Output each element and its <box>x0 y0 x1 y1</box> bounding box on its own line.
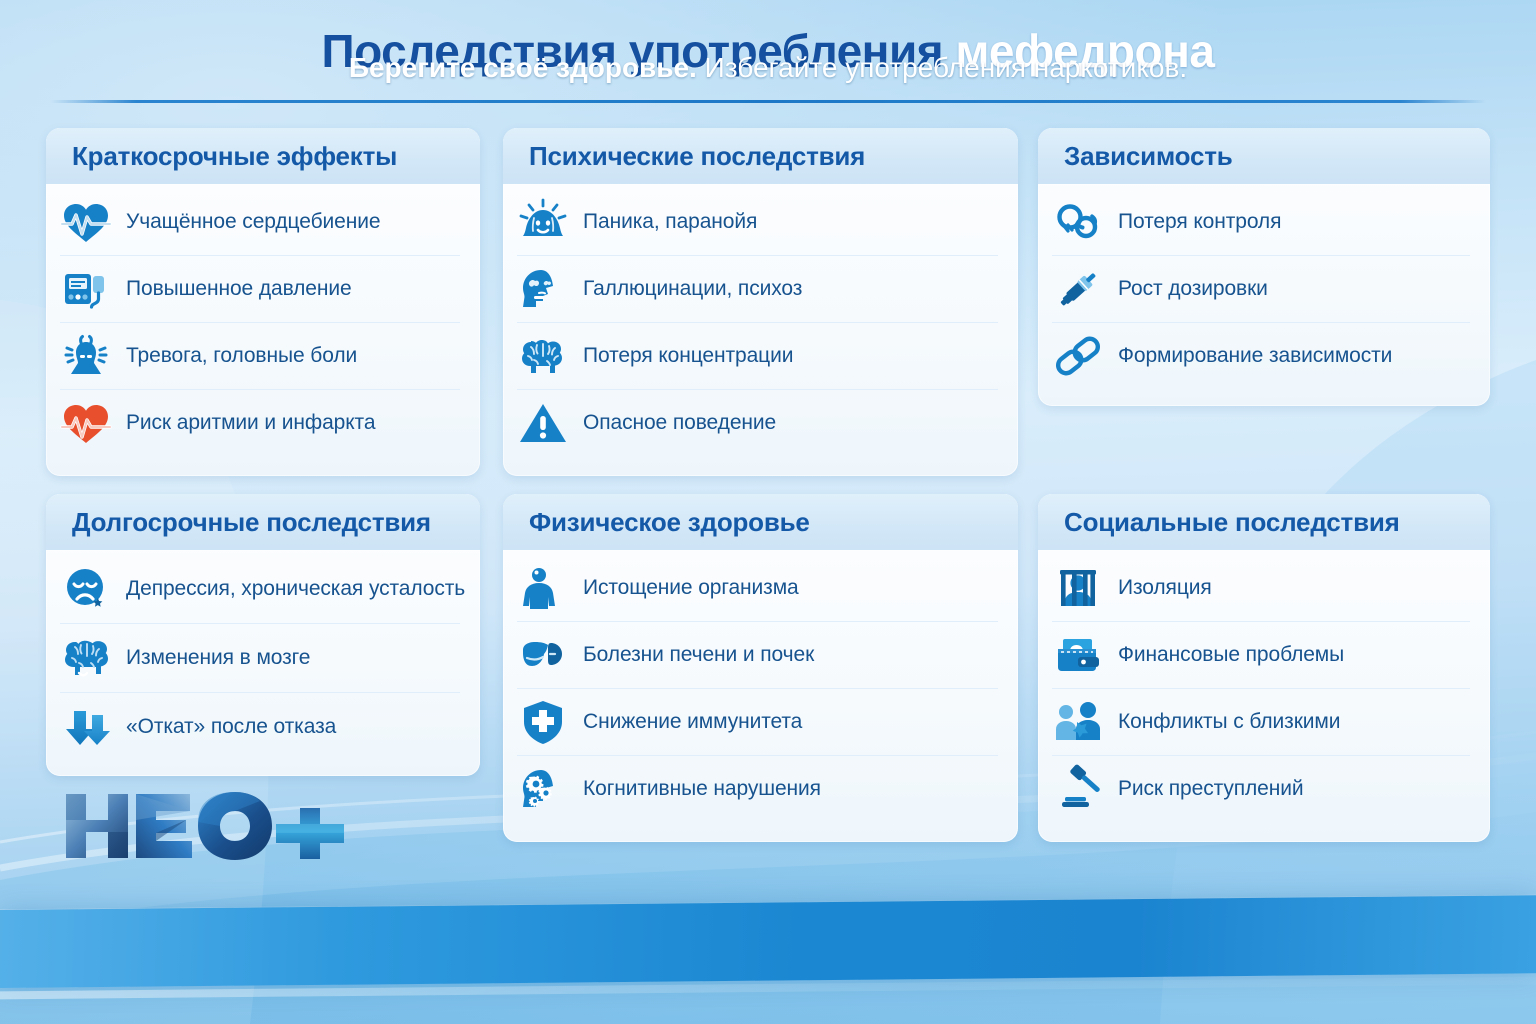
list-item-label: Галлюцинации, психоз <box>583 277 802 301</box>
blood-pressure-monitor-icon <box>60 263 112 315</box>
brand-logo-neo-plus: НЕО+ <box>62 788 352 864</box>
list-item-label: Болезни печени и почек <box>583 643 814 667</box>
prison-isolation-icon <box>1052 562 1104 614</box>
hallucination-head-icon <box>517 263 569 315</box>
list-item-label: Изоляция <box>1118 576 1212 600</box>
card-header: Долгосрочные последствия <box>46 494 480 551</box>
list-item-label: Риск аритмии и инфаркта <box>126 411 375 435</box>
card-title: Психические последствия <box>529 141 865 172</box>
card-header: Психические последствия <box>503 128 1018 185</box>
card-title: Долгосрочные последствия <box>72 507 431 538</box>
list-item[interactable]: Риск преступлений <box>1052 756 1470 822</box>
list-item-label: Финансовые проблемы <box>1118 643 1344 667</box>
list-item[interactable]: Рост дозировки <box>1052 256 1470 323</box>
head-gears-icon <box>517 763 569 815</box>
footer-strip <box>0 895 1536 988</box>
list-item[interactable]: Риск аритмии и инфаркта <box>60 390 460 456</box>
list-item[interactable]: Повышенное давление <box>60 256 460 323</box>
list-item-label: Формирование зависимости <box>1118 344 1392 368</box>
sad-face-icon <box>60 563 112 615</box>
brain-icon <box>517 330 569 382</box>
conflict-people-icon <box>1052 696 1104 748</box>
card-body: Депрессия, хроническая усталость Изменен… <box>46 551 480 771</box>
list-item[interactable]: Учащённое сердцебиение <box>60 189 460 256</box>
brain-change-icon <box>60 632 112 684</box>
list-item[interactable]: Истощение организма <box>517 555 998 622</box>
list-item[interactable]: Снижение иммунитета <box>517 689 998 756</box>
list-item[interactable]: Изменения в мозге <box>60 624 460 693</box>
card-title: Зависимость <box>1064 141 1233 172</box>
gavel-icon <box>1052 763 1104 815</box>
list-item-label: Тревога, головные боли <box>126 344 357 368</box>
list-item[interactable]: Потеря концентрации <box>517 323 998 390</box>
footer-message-rest: Избегайте употребления наркотиков. <box>705 52 1188 83</box>
card-header: Социальные последствия <box>1038 494 1490 551</box>
card-header: Краткосрочные эффекты <box>46 128 480 185</box>
card-social-consequences: Социальные последствия Изоляция <box>1038 494 1490 842</box>
card-body: Изоляция Финансовые проблемы К <box>1038 551 1490 832</box>
handcuffs-icon <box>1052 196 1104 248</box>
card-short-term-effects: Краткосрочные эффекты Учащённое сердцеби… <box>46 128 480 476</box>
list-item[interactable]: Паника, паранойя <box>517 189 998 256</box>
list-item[interactable]: Опасное поведение <box>517 390 998 456</box>
card-body: Паника, паранойя Галлюцинации, психоз По… <box>503 185 1018 466</box>
card-header: Зависимость <box>1038 128 1490 185</box>
list-item-label: Риск преступлений <box>1118 777 1304 801</box>
card-long-term-consequences: Долгосрочные последствия Депрессия, хрон… <box>46 494 480 776</box>
list-item-label: Изменения в мозге <box>126 646 310 670</box>
liver-kidney-icon <box>517 629 569 681</box>
list-item-label: Депрессия, хроническая усталость <box>126 577 465 601</box>
list-item[interactable]: Изоляция <box>1052 555 1470 622</box>
list-item[interactable]: «Откат» после отказа <box>60 693 460 761</box>
shield-cross-icon <box>517 696 569 748</box>
exhausted-body-icon <box>517 562 569 614</box>
list-item[interactable]: Финансовые проблемы <box>1052 622 1470 689</box>
card-title: Краткосрочные эффекты <box>72 141 397 172</box>
list-item[interactable]: Депрессия, хроническая усталость <box>60 555 460 624</box>
list-item[interactable]: Галлюцинации, психоз <box>517 256 998 323</box>
list-item-label: Истощение организма <box>583 576 799 600</box>
list-item-label: Потеря контроля <box>1118 210 1281 234</box>
list-item-label: Когнитивные нарушения <box>583 777 821 801</box>
card-title: Физическое здоровье <box>529 507 810 538</box>
list-item-label: Снижение иммунитета <box>583 710 802 734</box>
card-body: Потеря контроля Рост дозировки <box>1038 185 1490 399</box>
list-item[interactable]: Потеря контроля <box>1052 189 1470 256</box>
list-item-label: Повышенное давление <box>126 277 352 301</box>
card-title: Социальные последствия <box>1064 507 1400 538</box>
heart-arrhythmia-risk-icon <box>60 397 112 449</box>
headache-person-icon <box>60 330 112 382</box>
panic-ghost-icon <box>517 196 569 248</box>
list-item[interactable]: Конфликты с близкими <box>1052 689 1470 756</box>
list-item-label: Конфликты с близкими <box>1118 710 1340 734</box>
footer-message-bold: Берегите своё здоровье. <box>349 52 697 83</box>
list-item[interactable]: Болезни печени и почек <box>517 622 998 689</box>
card-body: Учащённое сердцебиение Повышенное давлен… <box>46 185 480 466</box>
list-item[interactable]: Тревога, головные боли <box>60 323 460 390</box>
list-item-label: Опасное поведение <box>583 411 776 435</box>
list-item-label: Рост дозировки <box>1118 277 1268 301</box>
down-arrows-icon <box>60 701 112 753</box>
card-physical-health: Физическое здоровье Истощение организма … <box>503 494 1018 842</box>
wallet-icon <box>1052 629 1104 681</box>
warning-triangle-icon <box>517 397 569 449</box>
list-item[interactable]: Когнитивные нарушения <box>517 756 998 822</box>
heartbeat-icon <box>60 196 112 248</box>
card-dependence: Зависимость Потеря контроля <box>1038 128 1490 406</box>
chain-link-icon <box>1052 330 1104 382</box>
syringe-icon <box>1052 263 1104 315</box>
list-item-label: «Откат» после отказа <box>126 715 336 739</box>
title-divider-rule <box>50 100 1486 103</box>
footer-message: Берегите своё здоровье. Избегайте употре… <box>0 52 1536 84</box>
card-body: Истощение организма Болезни печени и поч… <box>503 551 1018 832</box>
list-item-label: Паника, паранойя <box>583 210 757 234</box>
card-mental-consequences: Психические последствия Паника, паранойя <box>503 128 1018 476</box>
footer-band <box>0 880 1536 1024</box>
list-item-label: Потеря концентрации <box>583 344 793 368</box>
card-header: Физическое здоровье <box>503 494 1018 551</box>
list-item-label: Учащённое сердцебиение <box>126 210 380 234</box>
list-item[interactable]: Формирование зависимости <box>1052 323 1470 389</box>
